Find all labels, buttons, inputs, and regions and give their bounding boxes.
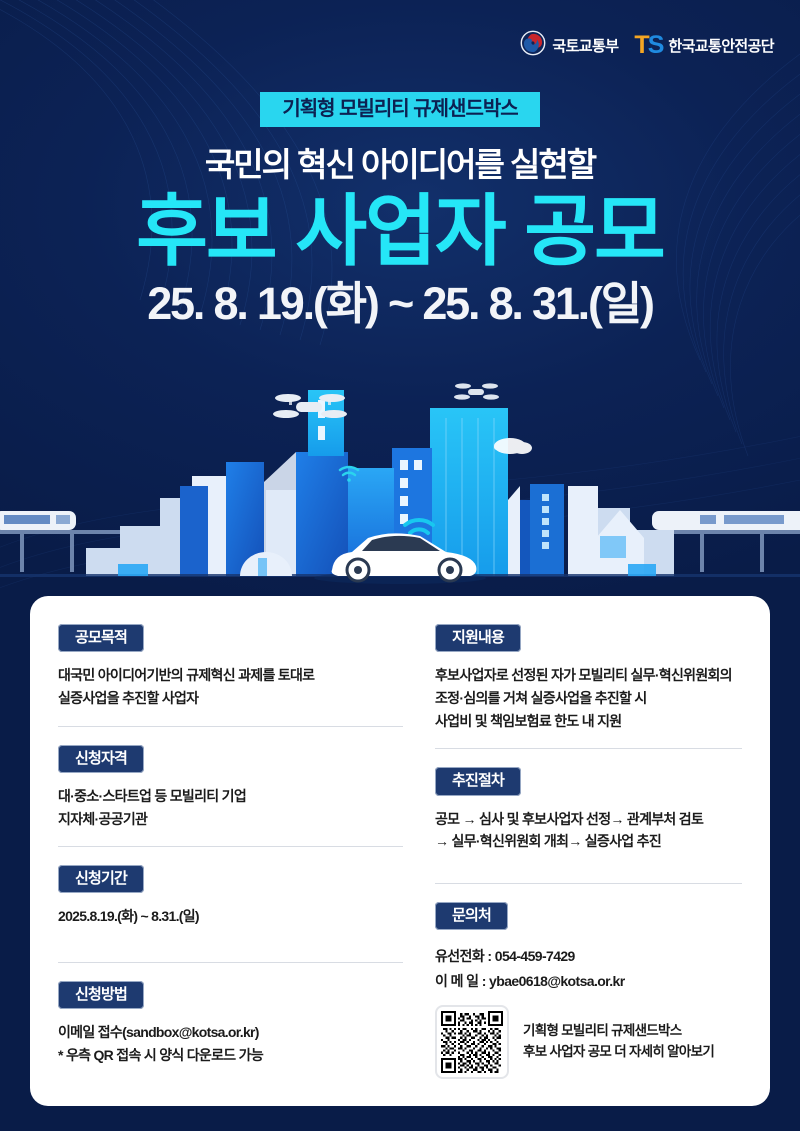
divider: [435, 883, 742, 884]
section-tag-purpose: 공모목적: [58, 624, 144, 652]
header-logo-bar: 국토교통부 TS 한국교통안전공단: [520, 30, 774, 61]
qr-code[interactable]: [435, 1005, 509, 1079]
section-support: 지원내용 후보사업자로 선정된 자가 모빌리티 실무·혁신위원회의 조정·심의를…: [435, 624, 742, 732]
section-contact: 문의처 유선전화 : 054-459-7429 이 메 일 : ybae0618…: [435, 902, 742, 1079]
ministry-name: 국토교통부: [552, 35, 618, 56]
eyebrow-badge: 기획형 모빌리티 규제샌드박스: [260, 92, 539, 127]
section-tag-procedure: 추진절차: [435, 767, 521, 795]
card-right-column: 지원내용 후보사업자로 선정된 자가 모빌리티 실무·혁신위원회의 조정·심의를…: [421, 624, 742, 1106]
cloud-icon: [494, 438, 532, 454]
section-eligibility: 신청자격 대·중소·스타트업 등 모빌리티 기업 지자체·공공기관: [58, 745, 403, 831]
section-text-procedure: 공모 → 심사 및 후보사업자 선정→ 관계부처 검토 → 실무·혁신위원회 개…: [435, 808, 742, 853]
section-purpose: 공모목적 대국민 아이디어기반의 규제혁신 과제를 토대로 실증사업을 추진할 …: [58, 624, 403, 710]
contact-phone: 유선전화 : 054-459-7429: [435, 944, 742, 969]
card-left-column: 공모목적 대국민 아이디어기반의 규제혁신 과제를 토대로 실증사업을 추진할 …: [58, 624, 403, 1106]
train-right: [652, 511, 800, 530]
divider: [58, 846, 403, 847]
hero-title: 후보 사업자 공모: [0, 191, 800, 273]
section-tag-eligibility: 신청자격: [58, 745, 144, 773]
qr-row: 기획형 모빌리티 규제샌드박스 후보 사업자 공모 더 자세히 알아보기: [435, 1005, 742, 1079]
ts-letter-s: S: [648, 33, 663, 58]
hero-section: 기획형 모빌리티 규제샌드박스 국민의 혁신 아이디어를 실현할 후보 사업자 …: [0, 92, 800, 329]
info-card: 공모목적 대국민 아이디어기반의 규제혁신 과제를 토대로 실증사업을 추진할 …: [30, 596, 770, 1106]
section-period: 신청기간 2025.8.19.(화) ~ 8.31.(일): [58, 865, 403, 928]
smart-city-illustration: [0, 378, 800, 598]
section-tag-support: 지원내용: [435, 624, 521, 652]
divider: [58, 962, 403, 963]
korea-government-taegeuk-logo: [520, 30, 546, 61]
drone-icon: [454, 383, 499, 399]
section-how-to-apply: 신청방법 이메일 접수(sandbox@kotsa.or.kr) * 우측 QR…: [58, 981, 403, 1067]
agency-logo: TS 한국교통안전공단: [634, 33, 774, 58]
section-text-support: 후보사업자로 선정된 자가 모빌리티 실무·혁신위원회의 조정·심의를 거쳐 실…: [435, 664, 742, 732]
poster-root: 국토교통부 TS 한국교통안전공단 기획형 모빌리티 규제샌드박스 국민의 혁신…: [0, 0, 800, 1131]
section-text-eligibility: 대·중소·스타트업 등 모빌리티 기업 지자체·공공기관: [58, 785, 403, 830]
section-text-period: 2025.8.19.(화) ~ 8.31.(일): [58, 905, 403, 928]
hero-date-range: 25. 8. 19.(화) ~ 25. 8. 31.(일): [0, 279, 800, 329]
section-tag-period: 신청기간: [58, 865, 144, 893]
divider: [435, 748, 742, 749]
contact-email[interactable]: 이 메 일 : ybae0618@kotsa.or.kr: [435, 969, 742, 994]
ts-mark: TS: [634, 33, 662, 58]
ts-letter-t: T: [634, 33, 647, 58]
section-text-purpose: 대국민 아이디어기반의 규제혁신 과제를 토대로 실증사업을 추진할 사업자: [58, 664, 403, 709]
section-tag-how-to-apply: 신청방법: [58, 981, 144, 1009]
section-procedure: 추진절차 공모 → 심사 및 후보사업자 선정→ 관계부처 검토 → 실무·혁신…: [435, 767, 742, 853]
section-text-how-to-apply: 이메일 접수(sandbox@kotsa.or.kr) * 우측 QR 접속 시…: [58, 1021, 403, 1066]
qr-caption: 기획형 모빌리티 규제샌드박스 후보 사업자 공모 더 자세히 알아보기: [523, 1021, 714, 1063]
agency-name: 한국교통안전공단: [668, 35, 774, 56]
divider: [58, 726, 403, 727]
ministry-logo: 국토교통부: [520, 30, 618, 61]
section-tag-contact: 문의처: [435, 902, 508, 930]
hero-subtitle: 국민의 혁신 아이디어를 실현할: [0, 147, 800, 183]
train-left: [0, 511, 76, 530]
